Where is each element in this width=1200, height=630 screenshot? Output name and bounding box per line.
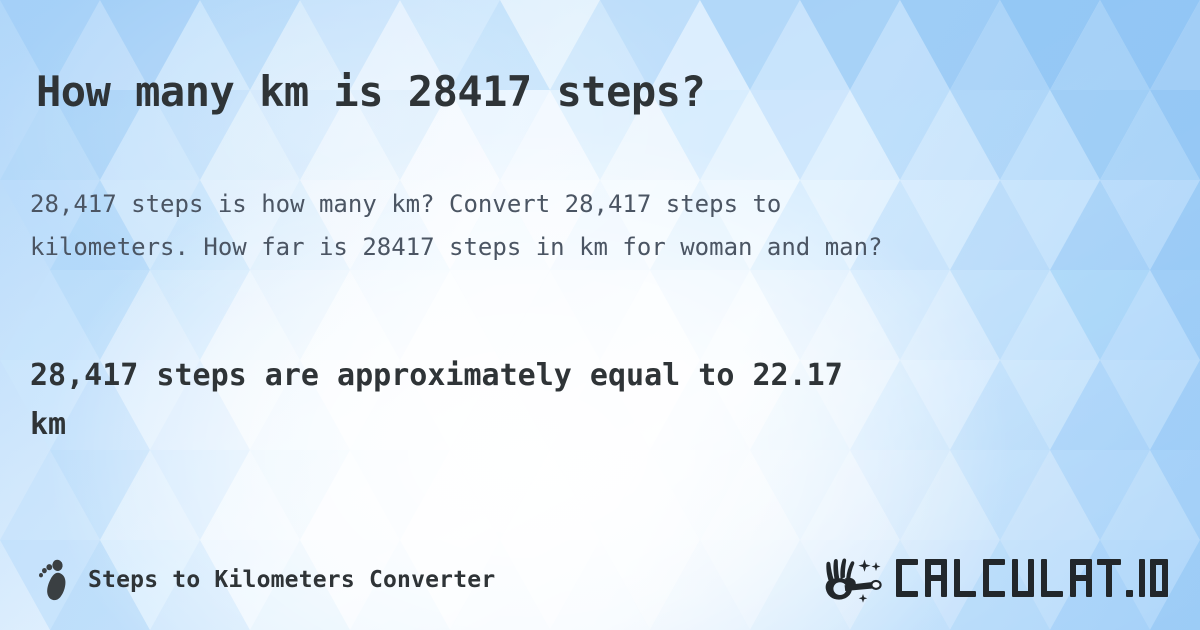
converter-footer[interactable]: Steps to Kilometers Converter [38, 552, 495, 608]
description-line-2: kilometers. How far is 28417 steps in km… [30, 226, 1170, 269]
description-line-1: 28,417 steps is how many km? Convert 28,… [30, 183, 1170, 226]
footprint-icon [38, 558, 72, 602]
brand-wordmark [894, 554, 1170, 604]
converter-name: Steps to Kilometers Converter [88, 567, 495, 593]
brand-logo[interactable] [824, 550, 1170, 608]
result-line-1: 28,417 steps are approximately equal to … [30, 352, 1170, 401]
social-card: How many km is 28417 steps? 28,417 steps… [0, 0, 1200, 630]
description-block: 28,417 steps is how many km? Convert 28,… [30, 183, 1170, 268]
page-title: How many km is 28417 steps? [36, 68, 1166, 115]
hand-wand-sparkles-icon [824, 554, 890, 604]
result-line-2: km [30, 401, 1170, 450]
conversion-result: 28,417 steps are approximately equal to … [30, 352, 1170, 450]
